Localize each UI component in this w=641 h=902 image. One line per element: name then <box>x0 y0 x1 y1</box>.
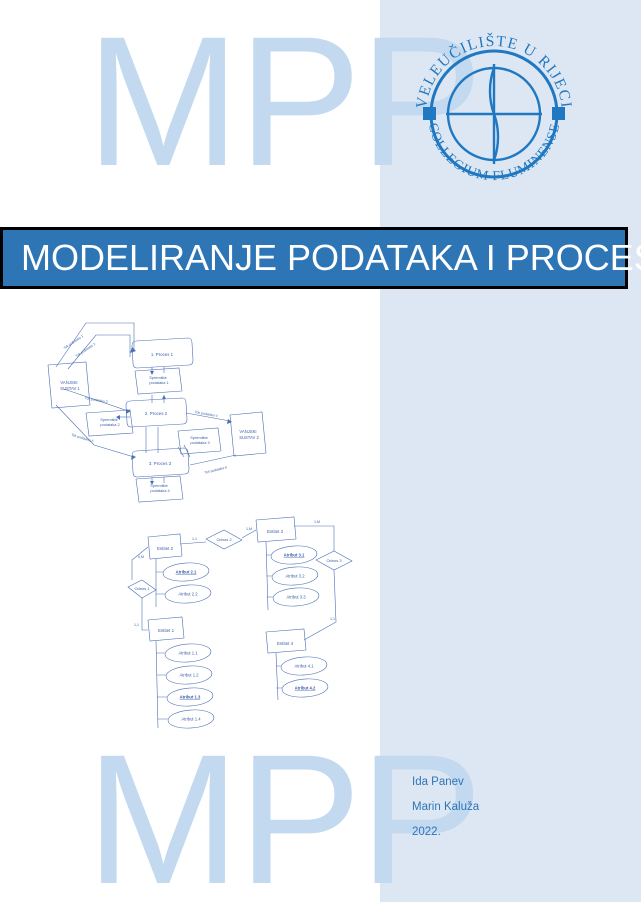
erd-attr-4-2-label: Atribut 4.2 <box>295 686 316 691</box>
dfd-flow-4 <box>56 405 134 457</box>
erd-card-1M-b: 1,M <box>314 520 320 524</box>
erd-attr-3-2-label: Atribut 3.2 <box>285 574 305 579</box>
dfd-external-system-1 <box>48 362 90 408</box>
dfd-p1-label: 1. Proces 1 <box>151 352 174 357</box>
dfd-p3-label: 3. Proces 3 <box>149 461 172 466</box>
erd-attr-3-1-label: Atribut 3.1 <box>284 553 305 558</box>
dfd-es2-label-1: VANJSKI <box>239 429 256 434</box>
dfd-flow6-label: Tok podataka 6 <box>204 465 227 474</box>
dfd-ds1-label-2: podataka 1 <box>149 380 168 385</box>
dfd-es1-label-2: SUSTAV 1 <box>60 386 80 391</box>
erd-relationship-3-label: Odnos 3 <box>326 558 342 563</box>
dfd-es2-label-2: SUSTAV 2 <box>239 435 259 440</box>
erd-card-11-a: 1,1 <box>134 623 139 627</box>
dfd-p2-label: 2. Proces 2 <box>145 411 168 416</box>
data-flow-diagram: VANJSKI SUSTAV 1 VANJSKI SUSTAV 2 1. Pro… <box>34 305 284 510</box>
erd-relationship-1-label: Odnos 1 <box>134 586 150 591</box>
erd-attr-4-1-label: Atribut 4.1 <box>294 664 314 669</box>
university-logo: VELEUČILIŠTE U RIJECI COLLEGIUM FLUMINEN… <box>408 28 580 200</box>
dfd-flow3-label: Tok podataka 3 <box>85 396 108 404</box>
erd-attr-1-3-label: Atribut 1.3 <box>180 695 201 700</box>
erd-card-0M: 0,M <box>138 555 144 559</box>
erd-attr-2-2-label: Atribut 2.2 <box>178 592 198 597</box>
erd-entity-3-label: Entitet 3 <box>267 529 284 534</box>
dfd-external-system-2 <box>230 412 266 456</box>
erd-entity-1-label: Entitet 1 <box>158 628 175 633</box>
dfd-es1-label-1: VANJSKI <box>60 380 77 385</box>
dfd-flow1-label: Tok podataka 1 <box>63 334 84 350</box>
erd-card-11-b: 1,1 <box>192 537 197 541</box>
erd-card-1M-a: 1,M <box>246 527 252 531</box>
entity-relationship-diagram: Entitet 2 Entitet 1 Entitet 3 Entitet 4 … <box>118 512 368 737</box>
dfd-flow2-label: Tok podataka 2 <box>75 342 96 358</box>
dfd-flow-5 <box>190 455 236 465</box>
erd-relationship-2-label: Odnos 2 <box>216 537 232 542</box>
dfd-flow5-label: Tok podataka 5 <box>71 433 94 444</box>
erd-attr-3-3-label: Atribut 3.3 <box>286 595 306 600</box>
author-name-1: Ida Panev <box>412 770 592 795</box>
book-cover-page: MPP VELEUČILIŠTE U RIJECI <box>0 0 641 902</box>
dfd-ds2-label-2: podataka 2 <box>100 422 119 427</box>
title-banner: MODELIRANJE PODATAKA I PROCESA <box>0 227 628 289</box>
erd-entity-2-label: Entitet 2 <box>157 546 174 551</box>
erd-attr-2-1-label: Atribut 2.1 <box>176 570 197 575</box>
cover-title: MODELIRANJE PODATAKA I PROCESA <box>3 237 641 279</box>
author-name-2: Marin Kaluža <box>412 795 592 820</box>
authors-block: Ida Panev Marin Kaluža 2022. <box>412 770 592 845</box>
erd-attr-1-1-label: Atribut 1.1 <box>178 651 198 656</box>
erd-attr-1-2-label: Atribut 1.2 <box>179 673 199 678</box>
erd-card-11-c: 1,1 <box>330 617 335 621</box>
dfd-ds4-label-2: podataka 4 <box>150 488 170 493</box>
dfd-ds3-label-2: podataka 3 <box>190 440 209 445</box>
erd-entity-4-label: Entitet 4 <box>277 641 294 646</box>
publication-year: 2022. <box>412 820 592 845</box>
